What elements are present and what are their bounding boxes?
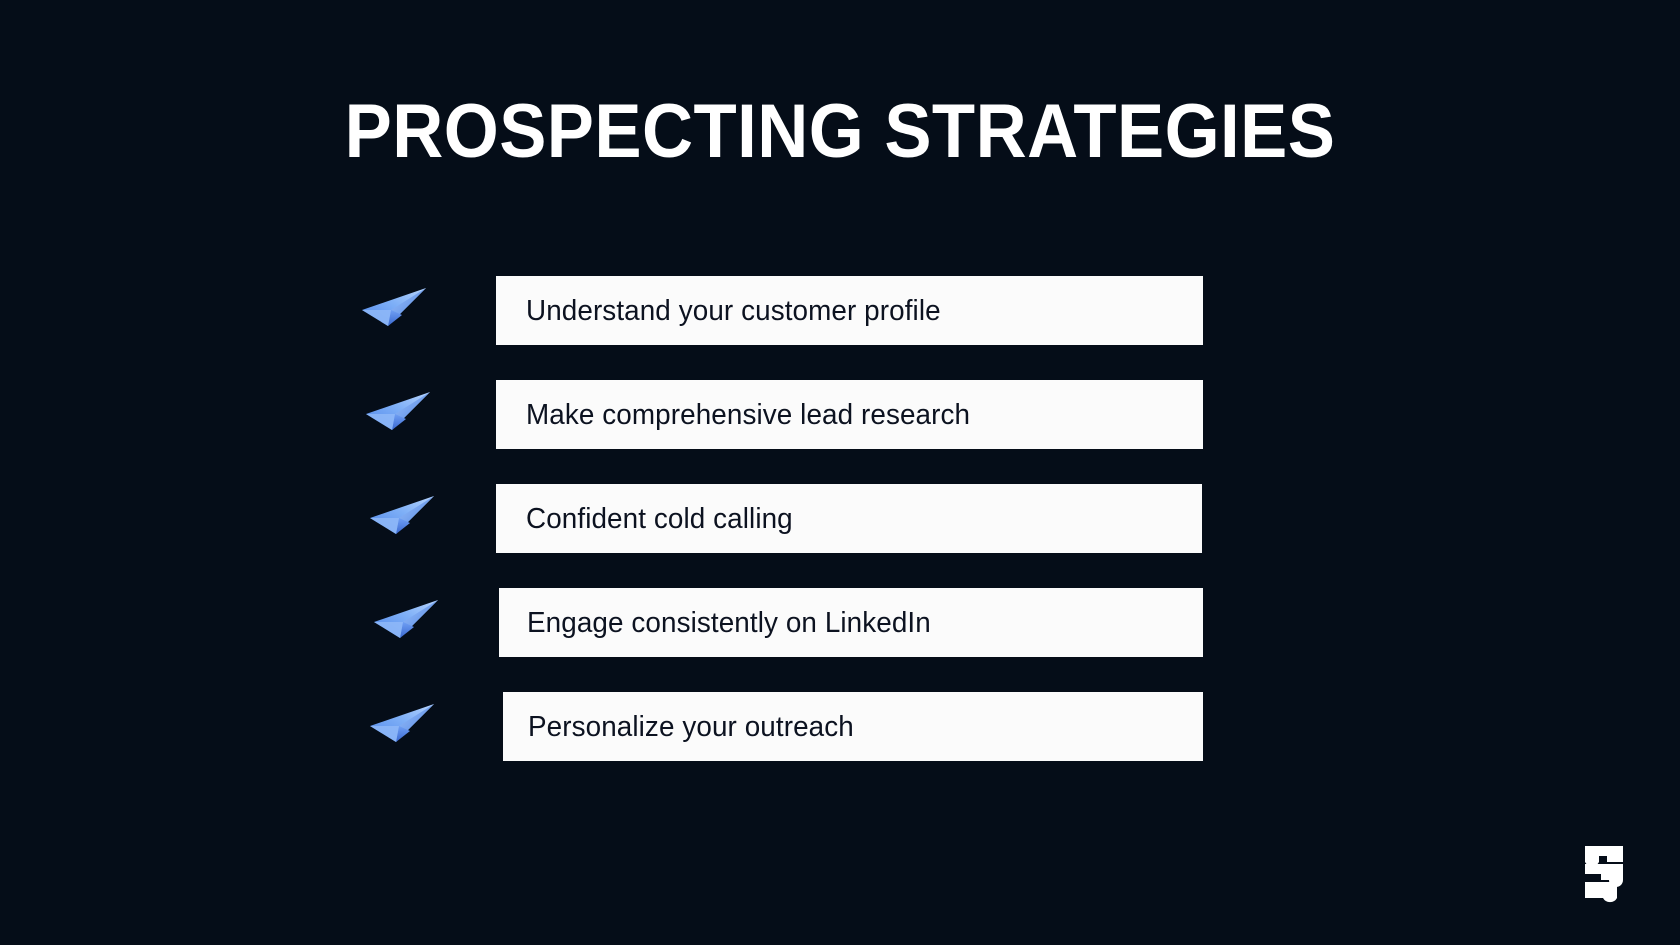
list-item-label: Understand your customer profile bbox=[526, 294, 941, 328]
strategy-list: Understand your customer profile bbox=[0, 276, 1680, 761]
strategy-box[interactable]: Personalize your outreach bbox=[503, 692, 1203, 761]
paper-plane-icon bbox=[370, 597, 442, 649]
strategy-box[interactable]: Make comprehensive lead research bbox=[496, 380, 1203, 449]
list-item: Make comprehensive lead research bbox=[0, 380, 1680, 449]
strategy-box[interactable]: Understand your customer profile bbox=[496, 276, 1203, 345]
page-title: PROSPECTING STRATEGIES bbox=[59, 88, 1621, 176]
paper-plane-icon bbox=[362, 389, 434, 441]
list-item: Confident cold calling bbox=[0, 484, 1680, 553]
slide-canvas: PROSPECTING STRATEGIES bbox=[0, 0, 1680, 945]
list-item-label: Make comprehensive lead research bbox=[526, 398, 970, 432]
strategy-box[interactable]: Confident cold calling bbox=[496, 484, 1202, 553]
strategy-box[interactable]: Engage consistently on LinkedIn bbox=[499, 588, 1203, 657]
list-item: Personalize your outreach bbox=[0, 692, 1680, 761]
list-item: Engage consistently on LinkedIn bbox=[0, 588, 1680, 657]
stylized-s-logo-icon bbox=[1573, 842, 1635, 904]
paper-plane-icon bbox=[366, 701, 438, 753]
list-item-label: Personalize your outreach bbox=[528, 710, 854, 744]
list-item-label: Confident cold calling bbox=[526, 502, 793, 536]
list-item: Understand your customer profile bbox=[0, 276, 1680, 345]
list-item-label: Engage consistently on LinkedIn bbox=[527, 606, 931, 640]
paper-plane-icon bbox=[358, 285, 430, 337]
paper-plane-icon bbox=[366, 493, 438, 545]
